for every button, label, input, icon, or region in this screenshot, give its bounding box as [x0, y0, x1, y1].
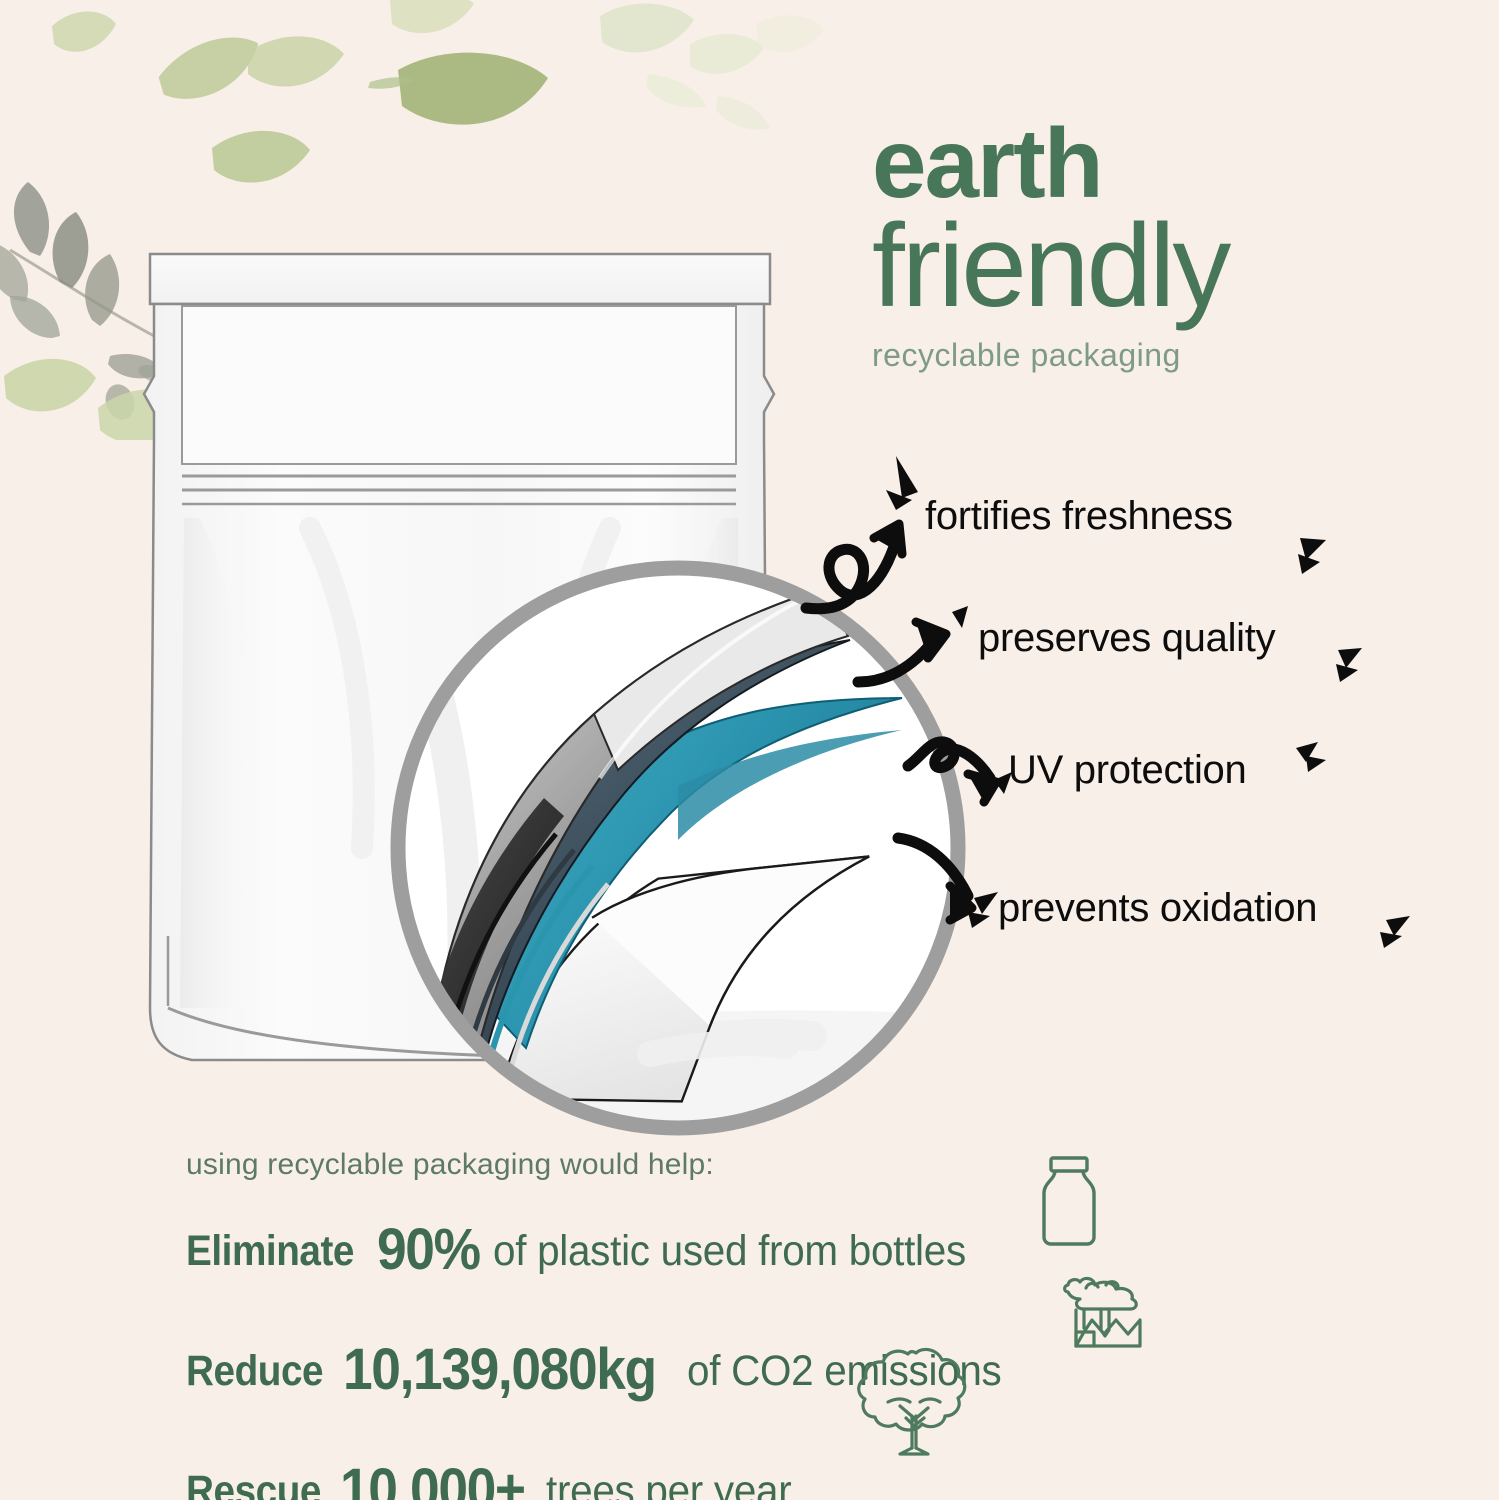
headline-subtitle: recyclable packaging [872, 337, 1492, 374]
headline-block: earth friendly recyclable packaging [872, 118, 1492, 374]
stat-tail: trees per year [546, 1467, 791, 1500]
feature-label-uv-protection: UV protection [1008, 748, 1246, 793]
infographic-canvas: earth friendly recyclable packaging fort… [0, 0, 1499, 1500]
feature-label-prevents-oxidation: prevents oxidation [998, 886, 1317, 931]
stats-intro: using recyclable packaging would help: [186, 1148, 1316, 1182]
stat-lead: Reduce [186, 1347, 323, 1396]
headline-line-2: friendly [872, 210, 1492, 323]
stat-tail: of plastic used from bottles [493, 1227, 966, 1276]
magnifier-circle [378, 548, 978, 1148]
stat-row: Rescue 10,000+ trees per year [186, 1456, 1316, 1500]
stat-lead: Rescue [186, 1467, 321, 1500]
stat-figure: 10,000+ [340, 1456, 525, 1500]
tree-icon [852, 1338, 976, 1462]
feature-label-fortifies-freshness: fortifies freshness [925, 494, 1233, 539]
stat-lead: Eliminate [186, 1227, 354, 1276]
bottle-icon [1038, 1155, 1100, 1247]
headline-line-1: earth [872, 118, 1492, 208]
feature-label-preserves-quality: preserves quality [978, 616, 1275, 661]
factory-icon [1062, 1258, 1158, 1350]
stat-figure: 90% [377, 1216, 480, 1283]
stat-figure: 10,139,080kg [343, 1336, 656, 1403]
